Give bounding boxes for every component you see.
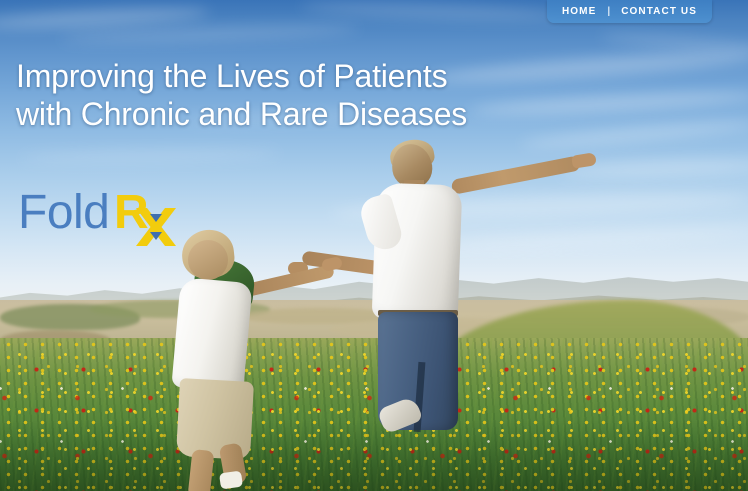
svg-text:Fold: Fold [18,186,109,239]
nav-link-home[interactable]: HOME [560,6,598,17]
photo-figure-man [360,140,590,470]
photo-figure-boy [160,228,340,491]
boy-leg [188,449,215,491]
hero-headline: Improving the Lives of Patients with Chr… [16,57,486,133]
cloud-wisp [470,88,748,117]
cloud-wisp [20,148,280,165]
foldrx-logo-mark: Fold R [18,186,183,248]
nav-separator: | [598,6,619,17]
man-right-arm [451,155,581,195]
top-navigation-bar: HOME | CONTACT US [547,0,712,23]
boy-white-shirt [171,277,252,393]
nav-link-contact-us[interactable]: CONTACT US [619,6,699,17]
cloud-wisp [0,4,210,32]
boy-sock [219,471,243,490]
boy-hand [321,256,343,272]
boy-head [188,240,228,280]
cloud-wisp [600,32,748,55]
page-root: HOME | CONTACT US Improving the Lives of… [0,0,748,491]
boy-khaki-shorts [176,378,254,460]
foldrx-logo[interactable]: Fold R [18,186,183,248]
cloud-wisp [60,23,360,45]
cloud-wisp [300,0,560,23]
